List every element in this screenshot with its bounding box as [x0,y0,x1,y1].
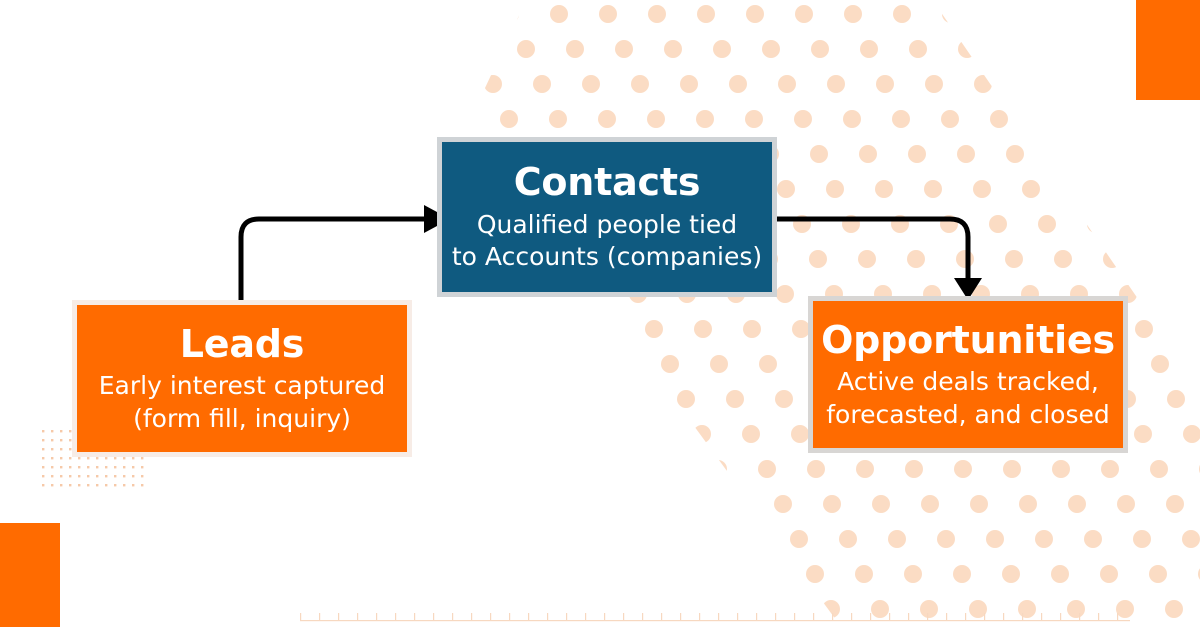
edge-contacts-to-opportunities [777,219,982,300]
node-opportunities-title: Opportunities [821,318,1115,363]
node-contacts-description: Qualified people tied to Accounts (compa… [452,209,762,274]
node-contacts-title: Contacts [514,160,701,205]
node-opportunities[interactable]: Opportunities Active deals tracked, fore… [808,296,1128,453]
node-leads-title: Leads [180,322,304,367]
edge-leads-to-contacts [241,205,450,300]
node-leads[interactable]: Leads Early interest captured (form fill… [72,300,412,457]
node-leads-description: Early interest captured (form fill, inqu… [99,370,386,435]
node-contacts[interactable]: Contacts Qualified people tied to Accoun… [437,137,777,297]
diagram-canvas: Leads Early interest captured (form fill… [0,0,1200,627]
node-opportunities-description: Active deals tracked, forecasted, and cl… [826,366,1109,431]
